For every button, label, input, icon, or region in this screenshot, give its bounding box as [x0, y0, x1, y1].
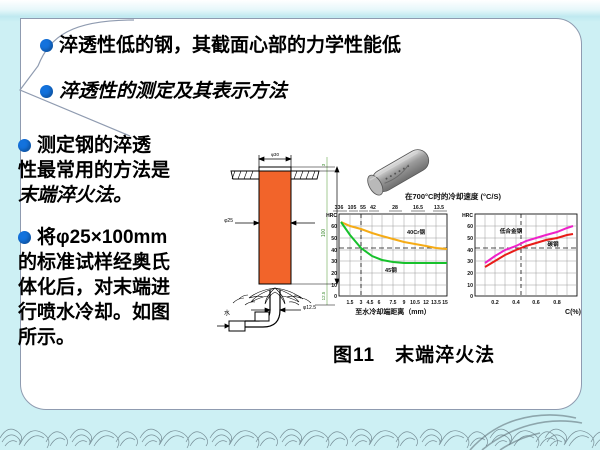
left-xtick-8: 13.5	[431, 300, 441, 306]
left-ytick-0: 0	[334, 294, 337, 300]
para2-line2: 的标准试样经奥氏	[18, 252, 170, 273]
top-tick-5: 16.5	[413, 205, 423, 211]
dim-top-diameter: φ30	[271, 152, 280, 157]
right-xtick-1: 0.4	[512, 300, 520, 306]
bullet-line-2-text: 淬透性的测定及其表示方法	[59, 81, 287, 102]
hardness-test-bar-icon	[365, 146, 433, 198]
left-xtick-6: 10.5	[410, 300, 420, 306]
left-ytick-50: 50	[331, 236, 337, 242]
right-ytick-40: 40	[467, 248, 473, 254]
left-chart-ylabel: HRC	[326, 213, 337, 219]
para1-lead: 测定钢的淬透	[37, 135, 151, 156]
right-xtick-2: 0.6	[532, 300, 540, 306]
left-ytick-20: 20	[331, 271, 337, 277]
label-water: 水	[224, 309, 230, 317]
left-ytick-10: 10	[331, 283, 337, 289]
hardenability-figure: 在700°C时的冷却速度 (°C/S) 336 105 55 42 28 16.…	[325, 140, 585, 340]
right-xtick-3: 0.8	[553, 300, 561, 306]
right-xtick-0: 0.2	[491, 300, 499, 306]
left-xtick-0: 1.5	[347, 300, 354, 306]
para1-emphasis: 末端淬火法。	[18, 185, 132, 206]
right-chart-ylabel: HRC	[462, 213, 473, 219]
bullet-dot-icon	[18, 139, 31, 152]
bullet-dot-icon	[18, 231, 31, 244]
paragraph-measure-method: 测定钢的淬透 性最常用的方法是 末端淬火法。	[18, 133, 223, 208]
left-ytick-60: 60	[331, 224, 337, 230]
left-xtick-2: 4.5	[367, 300, 374, 306]
top-tick-0: 336	[335, 205, 344, 211]
left-xtick-1: 3	[360, 300, 363, 306]
dim-nozzle-diameter: φ12.5	[303, 305, 316, 311]
bullet-dot-icon	[40, 39, 53, 52]
right-ytick-30: 30	[467, 259, 473, 265]
right-ytick-10: 10	[467, 283, 473, 289]
series-low-alloy-label: 低合金钢	[499, 227, 523, 235]
para2-line4: 行喷水冷却。如图	[18, 302, 170, 323]
top-tick-6: 13.5	[434, 205, 444, 211]
series-40cr-label: 40Cr钢	[407, 228, 425, 236]
top-tick-2: 55	[360, 205, 366, 211]
top-tick-4: 28	[392, 205, 398, 211]
right-ytick-50: 50	[467, 236, 473, 242]
right-ytick-60: 60	[467, 224, 473, 230]
paragraph-specimen-procedure: 将φ25×100mm 的标准试样经奥氏 体化后，对末端进 行喷水冷却。如图 所示…	[18, 225, 228, 350]
top-tick-1: 105	[348, 205, 357, 211]
chart-hardenability-distance: 336 105 55 42 28 16.5 13.5 HRC 60 50 40 …	[326, 205, 448, 316]
chart-carbon-content-hardness: HRC 60 50 40 30 20 10 0 低合金钢 碳钢 0.2 0.4 …	[462, 213, 581, 316]
left-xtick-3: 6	[378, 300, 381, 306]
series-45-label: 45钢	[385, 266, 397, 274]
para2-line5: 所示。	[18, 327, 75, 348]
left-ytick-40: 40	[331, 248, 337, 254]
figure-caption: 图11 末端淬火法	[333, 340, 495, 367]
bullet-line-2: 淬透性的测定及其表示方法	[40, 76, 287, 103]
bullet-dot-icon	[40, 85, 53, 98]
para2-lead: 将φ25×100mm	[37, 227, 167, 248]
series-carbon-steel-label: 碳钢	[547, 240, 559, 248]
left-xtick-5: 9	[403, 300, 406, 306]
left-ytick-30: 30	[331, 259, 337, 265]
cooling-rate-axis-title: 在700°C时的冷却速度 (°C/S)	[405, 191, 502, 201]
para1-line2: 性最常用的方法是	[18, 160, 170, 181]
left-xtick-9: 15	[442, 300, 448, 306]
dim-specimen-diameter: φ25	[224, 218, 233, 224]
top-tick-3: 42	[370, 205, 376, 211]
left-xtick-4: 7.5	[390, 300, 397, 306]
right-ytick-20: 20	[467, 271, 473, 277]
right-chart-xlabel: C(%)	[565, 309, 581, 316]
bullet-line-1: 淬透性低的钢，其截面心部的力学性能低	[40, 30, 401, 57]
left-xtick-7: 12	[423, 300, 429, 306]
bullet-line-1-text: 淬透性低的钢，其截面心部的力学性能低	[59, 35, 401, 56]
para2-line3: 体化后，对末端进	[18, 277, 170, 298]
right-ytick-0: 0	[470, 294, 473, 300]
left-chart-xlabel: 至水冷却端距离（mm）	[355, 307, 430, 316]
